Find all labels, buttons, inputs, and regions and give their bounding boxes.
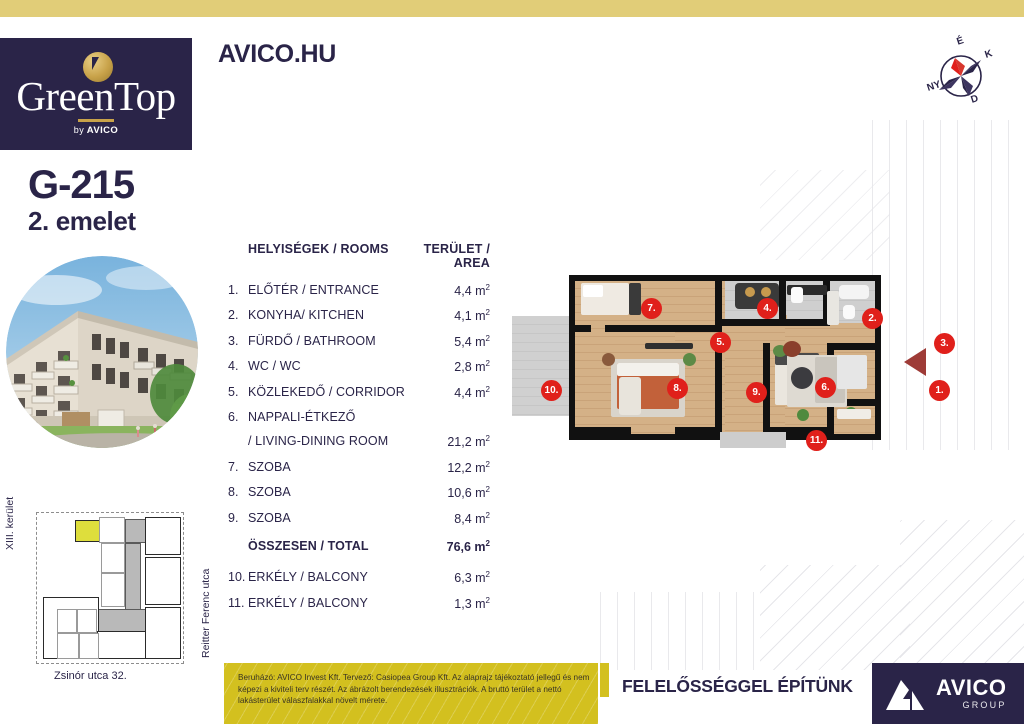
plan-marker-8: 8. [667, 378, 688, 399]
room-name: ERKÉLY / BALCONY [248, 597, 406, 612]
table-row: 4.WC / WC2,8 m2 [228, 360, 490, 375]
table-row: 3.FÜRDŐ / BATHROOM5,4 m2 [228, 335, 490, 350]
plan-marker-1: 1. [929, 380, 950, 401]
table-row: 2.KONYHA/ KITCHEN4,1 m2 [228, 309, 490, 324]
area-unit-exponent: 2 [486, 334, 490, 343]
avico-logo-group: GROUP [936, 701, 1007, 710]
area-unit-exponent: 2 [486, 570, 490, 579]
room-number: 10. [228, 571, 248, 586]
room-area: 12,2 m2 [406, 461, 490, 476]
logo-underline [78, 119, 114, 122]
top-gold-bar [0, 0, 1024, 17]
rooms-total-area: 76,6 m2 [406, 540, 490, 555]
apartment-interior [575, 281, 875, 434]
room-number: 4. [228, 360, 248, 375]
decorative-diagonal-lines-upper [760, 170, 890, 260]
balcony-small-area [720, 432, 786, 448]
table-row: 7.SZOBA12,2 m2 [228, 461, 490, 476]
logo-by-text: by [74, 125, 84, 135]
table-row: / LIVING-DINING ROOM21,2 m2 [228, 435, 490, 450]
table-row: 9.SZOBA8,4 m2 [228, 512, 490, 527]
table-row: 5.KÖZLEKEDŐ / CORRIDOR4,4 m2 [228, 386, 490, 401]
column-header-rooms: HELYISÉGEK / ROOMS [228, 242, 406, 270]
room-number: 3. [228, 335, 248, 350]
plan-marker-11: 11. [806, 430, 827, 451]
decorative-diagonal-lines-corner [900, 520, 1024, 670]
room-number: 6. [228, 411, 248, 425]
area-unit-exponent: 2 [486, 485, 490, 494]
avico-a-mark-icon [882, 677, 928, 711]
avico-logo-text: AVICO GROUP [936, 677, 1007, 710]
column-header-area: TERÜLET / AREA [406, 242, 490, 270]
room-area: 2,8 m2 [406, 360, 490, 375]
room-name: WC / WC [248, 360, 406, 375]
room-name: FÜRDŐ / BATHROOM [248, 335, 406, 350]
area-unit-exponent: 2 [486, 308, 490, 317]
site-plan-district-label: XIII. kerület [4, 497, 16, 550]
room-area: 4,4 m2 [406, 284, 490, 299]
area-unit-exponent: 2 [486, 283, 490, 292]
room-number: 2. [228, 309, 248, 324]
plan-marker-10: 10. [541, 380, 562, 401]
logo-byline: by AVICO [74, 125, 118, 136]
room-area: 4,4 m2 [406, 386, 490, 401]
rooms-table-header: HELYISÉGEK / ROOMS TERÜLET / AREA [228, 242, 490, 270]
room-area: 8,4 m2 [406, 512, 490, 527]
area-unit-exponent: 2 [486, 539, 490, 548]
brand-url: AVICO.HU [218, 40, 336, 69]
room-name: KÖZLEKEDŐ / CORRIDOR [248, 386, 406, 401]
unit-floor: 2. emelet [28, 208, 136, 234]
greentop-logo: GreenTop by AVICO [0, 38, 192, 150]
logo-wordmark: GreenTop [16, 76, 175, 117]
room-area: 1,3 m2 [406, 597, 490, 612]
decorative-diagonal-lines-bottom [760, 565, 910, 670]
plan-marker-4: 4. [757, 298, 778, 319]
site-plan-outline [36, 512, 184, 664]
room-number: 5. [228, 386, 248, 401]
room-number: 7. [228, 461, 248, 476]
footer-fine-print: Beruházó: AVICO Invest Kft. Tervező: Cas… [238, 672, 590, 707]
room-name: ELŐTÉR / ENTRANCE [248, 284, 406, 299]
room-number: 9. [228, 512, 248, 527]
plan-marker-9: 9. [746, 382, 767, 403]
compass-rose-icon: É K D NY [925, 36, 997, 112]
room-number: 1. [228, 284, 248, 299]
area-unit-exponent: 2 [486, 359, 490, 368]
avico-logo-name: AVICO [936, 677, 1007, 699]
decorative-vertical-lines-bottom [600, 592, 770, 670]
plan-marker-3: 3. [934, 333, 955, 354]
area-unit-exponent: 2 [486, 460, 490, 469]
footer-yellow-accent [600, 663, 609, 697]
plan-marker-2: 2. [862, 308, 883, 329]
logo-company-text: AVICO [87, 125, 118, 136]
site-plan: XIII. kerület Reitter Ferenc utca Zsinór… [14, 512, 190, 684]
room-name: ERKÉLY / BALCONY [248, 571, 406, 586]
table-row: 1.ELŐTÉR / ENTRANCE4,4 m2 [228, 284, 490, 299]
building-photo [6, 256, 198, 448]
table-row: 8.SZOBA10,6 m2 [228, 486, 490, 501]
site-plan-street-bottom-label: Zsinór utca 32. [54, 670, 127, 682]
room-area: 6,3 m2 [406, 571, 490, 586]
plan-marker-7: 7. [641, 298, 662, 319]
room-name: SZOBA [248, 461, 406, 476]
balcony-large-area [512, 316, 574, 416]
plan-marker-6: 6. [815, 377, 836, 398]
room-name: SZOBA [248, 512, 406, 527]
apartment-outline [569, 275, 881, 440]
room-name: SZOBA [248, 486, 406, 501]
room-name: NAPPALI-ÉTKEZŐ [248, 411, 406, 425]
area-unit-exponent: 2 [486, 596, 490, 605]
footer-slogan: FELELŐSSÉGGEL ÉPÍTÜNK [622, 676, 853, 697]
room-name: / LIVING-DINING ROOM [248, 435, 406, 450]
room-name: KONYHA/ KITCHEN [248, 309, 406, 324]
plan-marker-5: 5. [710, 332, 731, 353]
floor-plan: 7.4.2.5.3.8.9.6.1.10.11. [512, 270, 932, 455]
room-area: 4,1 m2 [406, 309, 490, 324]
rooms-total-row: ÖSSZESEN / TOTAL76,6 m2 [228, 540, 490, 555]
area-unit-exponent: 2 [486, 511, 490, 520]
room-area: 21,2 m2 [406, 435, 490, 450]
rooms-total-label: ÖSSZESEN / TOTAL [248, 540, 406, 555]
area-unit-exponent: 2 [486, 434, 490, 443]
rooms-table: HELYISÉGEK / ROOMS TERÜLET / AREA 1.ELŐT… [228, 242, 490, 622]
avico-group-logo: AVICO GROUP [872, 663, 1024, 724]
table-row: 11.ERKÉLY / BALCONY1,3 m2 [228, 597, 490, 612]
room-area: 5,4 m2 [406, 335, 490, 350]
area-unit-exponent: 2 [486, 385, 490, 394]
room-number: 11. [228, 597, 248, 612]
unit-code: G-215 [28, 165, 134, 205]
room-area: 10,6 m2 [406, 486, 490, 501]
site-plan-street-right-label: Reitter Ferenc utca [200, 569, 212, 658]
table-row: 10.ERKÉLY / BALCONY6,3 m2 [228, 571, 490, 586]
entrance-arrow-icon [904, 348, 926, 376]
floorplan-sheet: GreenTop by AVICO AVICO.HU É K D NY G-21… [0, 0, 1024, 724]
table-row: 6.NAPPALI-ÉTKEZŐ [228, 411, 490, 425]
room-number: 8. [228, 486, 248, 501]
room-area [406, 411, 490, 425]
